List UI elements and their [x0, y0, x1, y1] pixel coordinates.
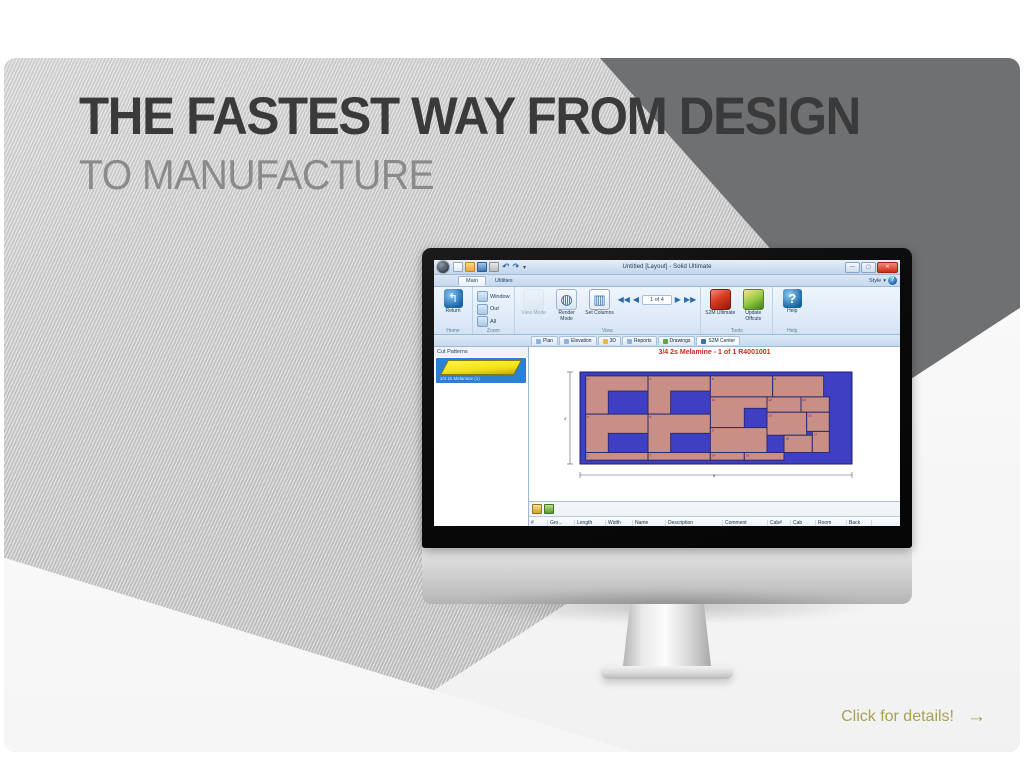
- s2m-icon: [701, 339, 706, 344]
- board-thumbnail-icon: [440, 360, 522, 375]
- imac-monitor-mockup: ↶ ↷ ▾ Untitled [Layout] - Solid Ultimate…: [422, 248, 912, 679]
- tab-reports-label: Reports: [634, 338, 652, 344]
- svg-text:10: 10: [802, 398, 806, 402]
- style-selector[interactable]: Style ▾ ?: [869, 276, 897, 285]
- render-mode-label: Render Mode: [552, 311, 582, 323]
- grid-column-headers: #Gro...LengthWidthNameDescriptionComment…: [529, 516, 900, 526]
- update-offcuts-label: Update Offcuts: [738, 311, 768, 323]
- refresh-icon[interactable]: [544, 504, 554, 514]
- application-body: Cut Patterns 3/4 2s Melamine (1) 3/4 2s …: [434, 347, 900, 526]
- cta-label: Click for details!: [841, 708, 954, 726]
- group-label-help: Help: [773, 328, 811, 334]
- ribbon-group-tools: S2M Ultimate Update Offcuts Tools: [701, 287, 773, 334]
- tab-drawings-label: Drawings: [670, 338, 691, 344]
- view-mode-icon: [523, 289, 544, 310]
- column-header[interactable]: #: [529, 520, 548, 526]
- report-icon: [627, 339, 632, 344]
- tab-s2m-center-label: S2M Center: [708, 338, 735, 344]
- tab-drawings[interactable]: Drawings: [658, 336, 696, 345]
- ribbon-tab-strip: Main Utilities Style ▾ ?: [434, 275, 900, 287]
- svg-text:11: 11: [711, 398, 714, 402]
- help-label: Help: [787, 309, 797, 315]
- svg-text:18: 18: [785, 436, 789, 440]
- svg-text:15: 15: [808, 413, 812, 417]
- column-header[interactable]: Cab: [791, 520, 816, 526]
- monitor-neck: [623, 604, 711, 666]
- tab-elevation-label: Elevation: [571, 338, 592, 344]
- nesting-diagram: 1489111210356131527141618174'8': [562, 368, 868, 486]
- svg-text:12: 12: [768, 398, 772, 402]
- zoom-all-label: All: [490, 319, 496, 325]
- svg-text:14: 14: [711, 454, 715, 458]
- cta-link[interactable]: Click for details! →: [841, 707, 986, 726]
- return-label: Return: [445, 309, 460, 315]
- zoom-window-button[interactable]: Window: [477, 291, 510, 302]
- help-button[interactable]: Help: [777, 289, 807, 315]
- column-header[interactable]: Room: [816, 520, 847, 526]
- monitor-bezel: ↶ ↷ ▾ Untitled [Layout] - Solid Ultimate…: [422, 248, 912, 548]
- column-header[interactable]: Description: [666, 520, 723, 526]
- return-icon: [444, 289, 463, 308]
- quick-access-toolbar: ↶ ↷ ▾: [453, 262, 526, 272]
- headline-block: THE FASTEST WAY FROM DESIGN TO MANUFACTU…: [79, 90, 919, 197]
- new-document-icon[interactable]: [453, 262, 463, 272]
- page-indicator[interactable]: 1 of 4: [642, 295, 672, 305]
- zoom-all-icon: [477, 316, 488, 327]
- view-mode-label: View Mode: [521, 311, 546, 317]
- s2m-ultimate-icon: [710, 289, 731, 310]
- tab-elevation[interactable]: Elevation: [559, 336, 597, 345]
- cube-icon: [603, 339, 608, 344]
- set-columns-button[interactable]: Set Columns: [585, 289, 615, 317]
- column-header[interactable]: Cab#: [768, 520, 791, 526]
- column-header[interactable]: Gro...: [548, 520, 575, 526]
- group-label-zoom: Zoom: [473, 328, 514, 334]
- tab-main[interactable]: Main: [458, 276, 486, 286]
- column-header[interactable]: Back: [847, 520, 872, 526]
- list-item-label: 3/4 2s Melamine (1): [438, 376, 524, 381]
- tab-plan[interactable]: Plan: [531, 336, 558, 345]
- view-mode-button[interactable]: View Mode: [519, 289, 549, 317]
- ribbon-group-help: Help Help: [773, 287, 811, 334]
- application-screen: ↶ ↷ ▾ Untitled [Layout] - Solid Ultimate…: [434, 260, 900, 526]
- last-page-button[interactable]: ▶▶: [684, 296, 696, 304]
- arrow-right-icon: →: [967, 707, 986, 726]
- save-disk-icon[interactable]: [477, 262, 487, 272]
- svg-text:4': 4': [564, 416, 567, 421]
- tab-3d-label: 3D: [610, 338, 616, 344]
- svg-text:17: 17: [813, 432, 817, 436]
- help-icon[interactable]: ?: [888, 276, 897, 285]
- render-mode-icon: [556, 289, 577, 310]
- svg-text:16: 16: [745, 454, 749, 458]
- drawing-icon: [663, 339, 668, 344]
- document-tab-bar: Plan Elevation 3D Reports: [434, 335, 900, 347]
- group-label-home: Home: [434, 328, 472, 334]
- next-page-button[interactable]: ▶: [675, 296, 681, 304]
- zoom-all-button[interactable]: All: [477, 316, 510, 327]
- style-label: Style: [869, 278, 881, 284]
- tab-3d[interactable]: 3D: [598, 336, 621, 345]
- column-header[interactable]: Comment: [723, 520, 768, 526]
- nesting-view: 3/4 2s Melamine - 1 of 1 R4001001 148911…: [529, 347, 900, 526]
- tab-utilities[interactable]: Utilities: [487, 276, 521, 286]
- help-question-icon: [783, 289, 802, 308]
- chevron-down-icon[interactable]: ▾: [883, 278, 886, 284]
- page-navigator: ◀◀ ◀ 1 of 4 ▶ ▶▶: [618, 289, 697, 305]
- app-orb-icon[interactable]: [436, 260, 450, 274]
- nesting-canvas[interactable]: 1489111210356131527141618174'8': [529, 357, 900, 501]
- tab-plan-label: Plan: [543, 338, 553, 344]
- maximize-button[interactable]: ▢: [861, 262, 876, 273]
- print-icon[interactable]: [489, 262, 499, 272]
- s2m-ultimate-label: S2M Ultimate: [705, 311, 735, 317]
- ribbon-toolbar: Return Home Window: [434, 287, 900, 335]
- page-title: THE FASTEST WAY FROM DESIGN: [79, 90, 860, 143]
- page-subtitle: TO MANUFACTURE: [79, 153, 860, 197]
- qat-more-icon[interactable]: ▾: [523, 264, 526, 271]
- zoom-window-icon: [477, 291, 488, 302]
- close-button[interactable]: ✕: [877, 262, 898, 273]
- grid-toolbar: [529, 502, 900, 516]
- export-icon[interactable]: [532, 504, 542, 514]
- tab-s2m-center[interactable]: S2M Center: [696, 336, 740, 345]
- plan-icon: [536, 339, 541, 344]
- column-header[interactable]: Width: [606, 520, 633, 526]
- minimize-button[interactable]: —: [845, 262, 860, 273]
- cut-patterns-panel: Cut Patterns 3/4 2s Melamine (1): [434, 347, 529, 526]
- tab-reports[interactable]: Reports: [622, 336, 657, 345]
- zoom-out-label: Out: [490, 306, 499, 312]
- return-button[interactable]: Return: [438, 289, 468, 315]
- zoom-window-label: Window: [490, 294, 510, 300]
- prev-page-button[interactable]: ◀: [633, 296, 639, 304]
- sheet-title: 3/4 2s Melamine - 1 of 1 R4001001: [529, 347, 900, 357]
- ribbon-group-view: View Mode Render Mode Set Columns: [515, 287, 702, 334]
- promo-slide: THE FASTEST WAY FROM DESIGN TO MANUFACTU…: [4, 58, 1020, 752]
- zoom-out-icon: [477, 304, 488, 315]
- column-header[interactable]: Name: [633, 520, 666, 526]
- window-controls: — ▢ ✕: [845, 262, 900, 273]
- s2m-ultimate-button[interactable]: S2M Ultimate: [705, 289, 735, 317]
- set-columns-label: Set Columns: [585, 311, 614, 317]
- ribbon-group-zoom: Window Out All: [473, 287, 515, 334]
- list-item[interactable]: 3/4 2s Melamine (1): [436, 358, 526, 383]
- monitor-foot: [601, 666, 733, 679]
- update-offcuts-icon: [743, 289, 764, 310]
- render-mode-button[interactable]: Render Mode: [552, 289, 582, 323]
- elevation-icon: [564, 339, 569, 344]
- cut-patterns-title: Cut Patterns: [434, 347, 528, 357]
- group-label-view: View: [515, 328, 701, 334]
- ribbon-group-home: Return Home: [434, 287, 473, 334]
- update-offcuts-button[interactable]: Update Offcuts: [738, 289, 768, 323]
- svg-text:8': 8': [713, 473, 716, 478]
- set-columns-icon: [589, 289, 610, 310]
- redo-icon[interactable]: ↷: [511, 263, 519, 271]
- zoom-out-button[interactable]: Out: [477, 304, 510, 315]
- parts-grid: #Gro...LengthWidthNameDescriptionComment…: [529, 501, 900, 526]
- undo-icon[interactable]: ↶: [501, 263, 509, 271]
- svg-text:13: 13: [768, 413, 772, 417]
- first-page-button[interactable]: ◀◀: [618, 296, 630, 304]
- group-label-tools: Tools: [701, 328, 772, 334]
- column-header[interactable]: Length: [575, 520, 606, 526]
- open-folder-icon[interactable]: [465, 262, 475, 272]
- window-title-bar: ↶ ↷ ▾ Untitled [Layout] - Solid Ultimate…: [434, 260, 900, 275]
